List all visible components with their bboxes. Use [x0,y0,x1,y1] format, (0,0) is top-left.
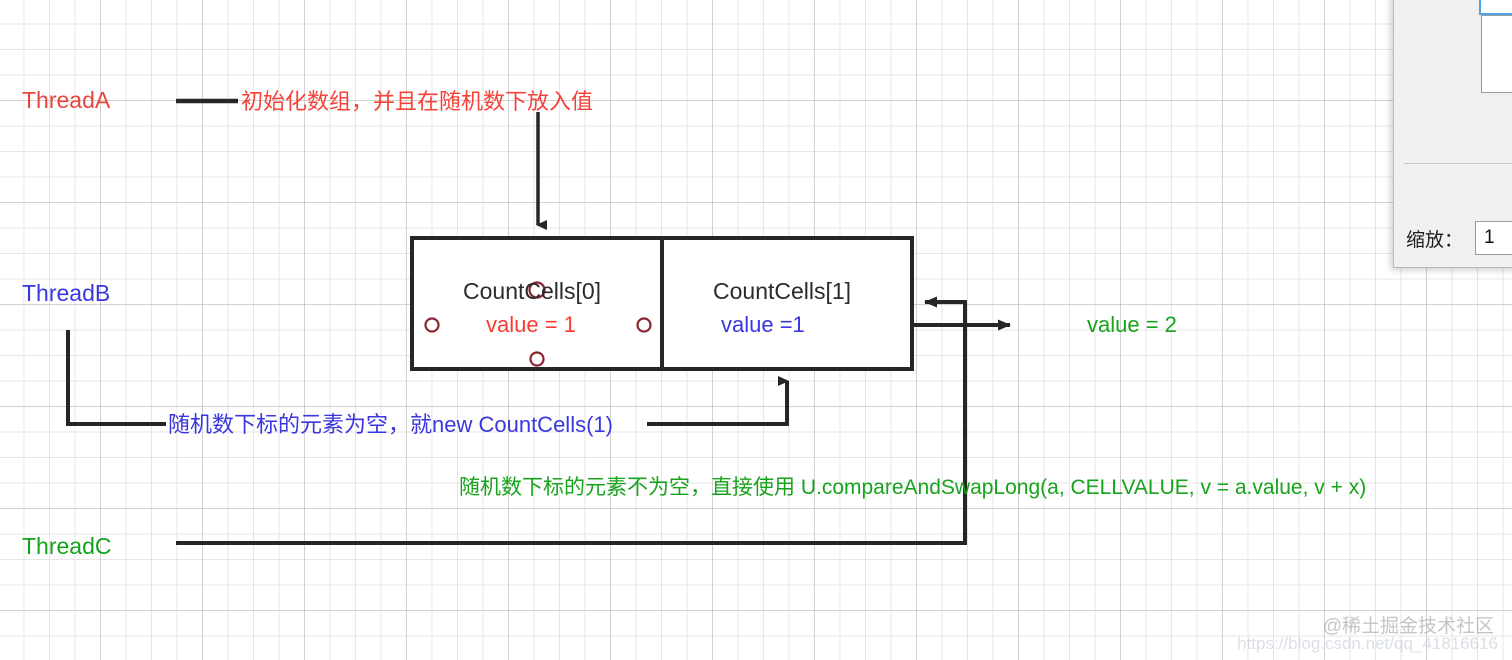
thread-label-b: ThreadB [22,282,110,305]
zoom-label: 缩放： [1406,225,1463,252]
cell-0-title: CountCells[0] [463,280,601,303]
cell-1-title: CountCells[1] [713,280,851,303]
zoom-input[interactable]: 1 [1475,221,1512,255]
watermark-url: https://blog.csdn.net/qq_41816616 [1237,634,1498,654]
cell-0-value: value = 1 [486,314,576,336]
dialog-zoom-row: 缩放： 1 [1406,221,1512,255]
note-thread-c: 随机数下标的元素不为空，直接使用 U.compareAndSwapLong(a,… [459,477,1366,498]
threadb-elbow-connector [68,330,166,424]
dialog-separator [1404,163,1512,164]
diagram-canvas: ThreadA 初始化数组，并且在随机数下放入值 ThreadB 随机数下标的元… [0,0,1512,660]
dialog-list-panel[interactable] [1481,15,1512,93]
cell-1-value: value =1 [721,314,805,336]
thread-label-c: ThreadC [22,535,111,558]
note-thread-b: 随机数下标的元素为空，就new CountCells(1) [168,414,613,436]
dialog-focused-field[interactable] [1479,0,1512,15]
threadb-to-cell1-arrow [647,381,787,424]
thread-label-a: ThreadA [22,89,110,112]
threadc-feedback-arrow [925,302,965,325]
zoom-dialog[interactable]: 缩放： 1 [1393,0,1512,268]
result-value: value = 2 [1087,314,1177,336]
note-thread-a: 初始化数组，并且在随机数下放入值 [241,91,593,113]
